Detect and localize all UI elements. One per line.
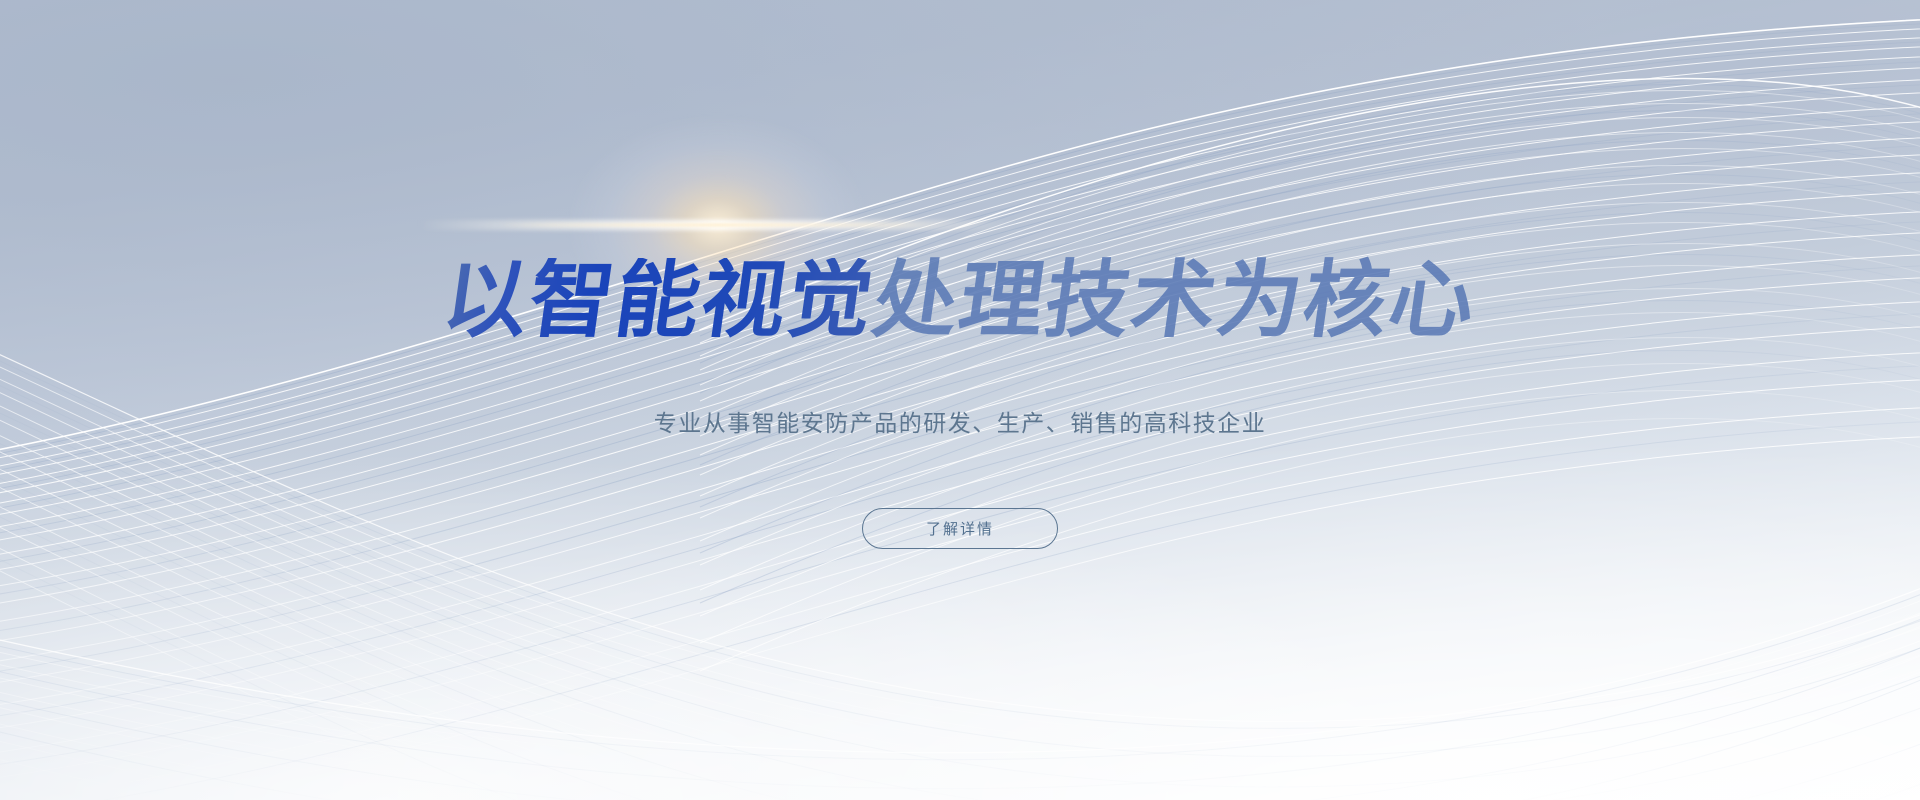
page-title: 以智能视觉处理技术为核心 xyxy=(438,258,1482,342)
learn-more-button[interactable]: 了解详情 xyxy=(862,508,1058,549)
headline-secondary-segment: 处理技术为核心 xyxy=(868,258,1482,342)
hero-banner: 以智能视觉处理技术为核心 专业从事智能安防产品的研发、生产、销售的高科技企业 了… xyxy=(0,0,1920,800)
hero-content: 以智能视觉处理技术为核心 专业从事智能安防产品的研发、生产、销售的高科技企业 了… xyxy=(0,0,1920,800)
headline-primary-segment: 以智能视觉 xyxy=(438,258,880,342)
hero-subtitle: 专业从事智能安防产品的研发、生产、销售的高科技企业 xyxy=(654,408,1267,440)
